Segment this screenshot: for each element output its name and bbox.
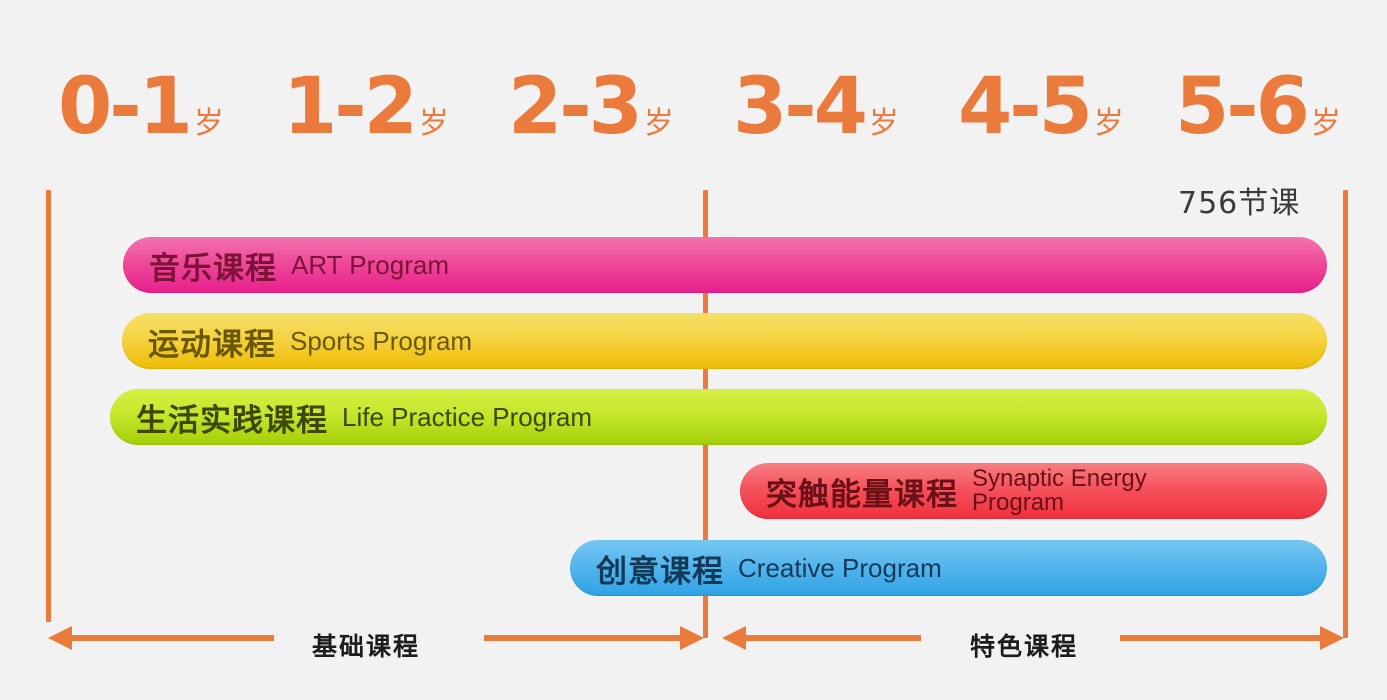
arrow-line-left-featured — [746, 635, 921, 641]
program-name-en: Synaptic Energy Program — [972, 467, 1147, 516]
arrow-head-left-featured — [722, 626, 746, 650]
course-timeline-infographic: 0-1 岁 1-2 岁 2-3 岁 3-4 岁 4-5 岁 5-6 岁 756节… — [0, 0, 1387, 700]
program-name-en: ART Program — [291, 252, 449, 279]
program-name-cn: 运动课程 — [148, 319, 276, 364]
program-name-en: Life Practice Program — [342, 404, 592, 431]
arrow-line-right-foundation — [484, 635, 680, 641]
arrow-line-left-foundation — [72, 635, 274, 641]
course-group-axis: 基础课程 特色课程 — [0, 612, 1387, 672]
program-name-cn: 突触能量课程 — [766, 469, 958, 514]
program-name-en: Creative Program — [738, 555, 942, 582]
program-name-en: Sports Program — [290, 328, 472, 355]
group-label-featured: 特色课程 — [970, 627, 1078, 663]
arrow-head-right-foundation — [680, 626, 704, 650]
program-bar-creative[interactable]: 创意课程 Creative Program — [570, 540, 1327, 596]
program-bar-sports[interactable]: 运动课程 Sports Program — [122, 313, 1327, 369]
group-label-foundation: 基础课程 — [312, 627, 420, 663]
arrow-line-right-featured — [1120, 635, 1320, 641]
arrow-head-right-featured — [1320, 626, 1344, 650]
program-bar-synaptic-energy[interactable]: 突触能量课程 Synaptic Energy Program — [740, 463, 1327, 519]
program-bar-music[interactable]: 音乐课程 ART Program — [123, 237, 1327, 293]
program-bar-life-practice[interactable]: 生活实践课程 Life Practice Program — [110, 389, 1327, 445]
arrow-head-left-foundation — [48, 626, 72, 650]
program-name-cn: 生活实践课程 — [136, 395, 328, 440]
program-name-cn: 创意课程 — [596, 546, 724, 591]
program-bars: 音乐课程 ART Program 运动课程 Sports Program 生活实… — [0, 0, 1387, 700]
program-name-cn: 音乐课程 — [149, 243, 277, 288]
